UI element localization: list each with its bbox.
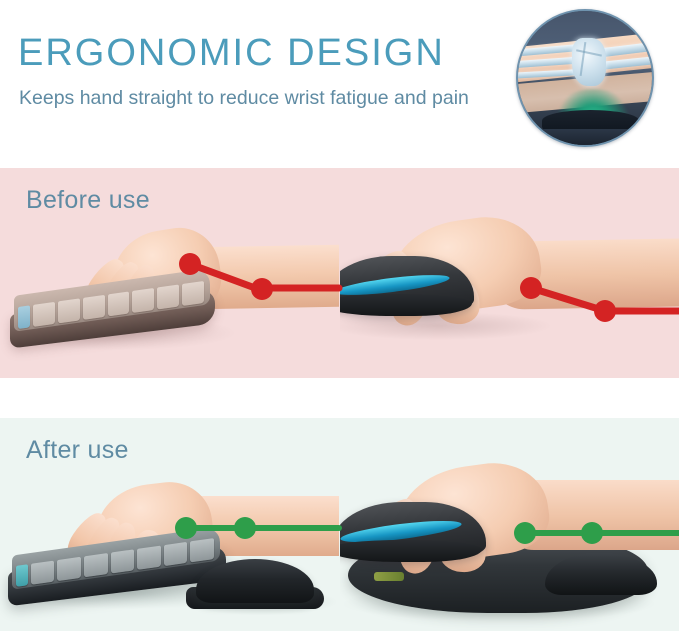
- keyboard-key: [33, 302, 55, 327]
- mouse-base: [340, 294, 472, 316]
- after-mouse-scene: [340, 418, 679, 631]
- wrist-xray-icon: [516, 9, 654, 147]
- keyboard-key: [132, 288, 154, 313]
- keyboard-key: [108, 291, 130, 316]
- keyboard-key: [16, 564, 28, 587]
- keyboard-key: [84, 553, 108, 577]
- keyboard-key: [57, 557, 81, 581]
- keyboard-key: [58, 298, 80, 323]
- page-subtitle: Keeps hand straight to reduce wrist fati…: [19, 85, 469, 111]
- keyboard-key: [182, 281, 204, 306]
- mouse-base: [340, 540, 482, 562]
- panel-label-before: Before use: [26, 186, 150, 215]
- panel-before-use: Before use: [0, 168, 679, 378]
- page-title: ERGONOMIC DESIGN: [18, 30, 445, 76]
- keyboard-key: [157, 284, 179, 309]
- panel-after-use: After use: [0, 418, 679, 631]
- header-section: ERGONOMIC DESIGN Keeps hand straight to …: [0, 0, 679, 168]
- keyboard-key: [190, 538, 214, 562]
- before-mouse-scene: [340, 168, 679, 378]
- xray-desk: [518, 129, 652, 147]
- keyboard-key: [83, 295, 105, 320]
- keyboard-key: [137, 546, 161, 570]
- keyboard-key: [31, 561, 55, 585]
- keyboard-key: [18, 305, 30, 329]
- mousepad-logo: [374, 572, 404, 581]
- keyboard-key: [164, 542, 188, 566]
- panel-label-after: After use: [26, 436, 129, 465]
- keyboard-key: [111, 549, 135, 573]
- xray-carpal-bones: [572, 38, 607, 86]
